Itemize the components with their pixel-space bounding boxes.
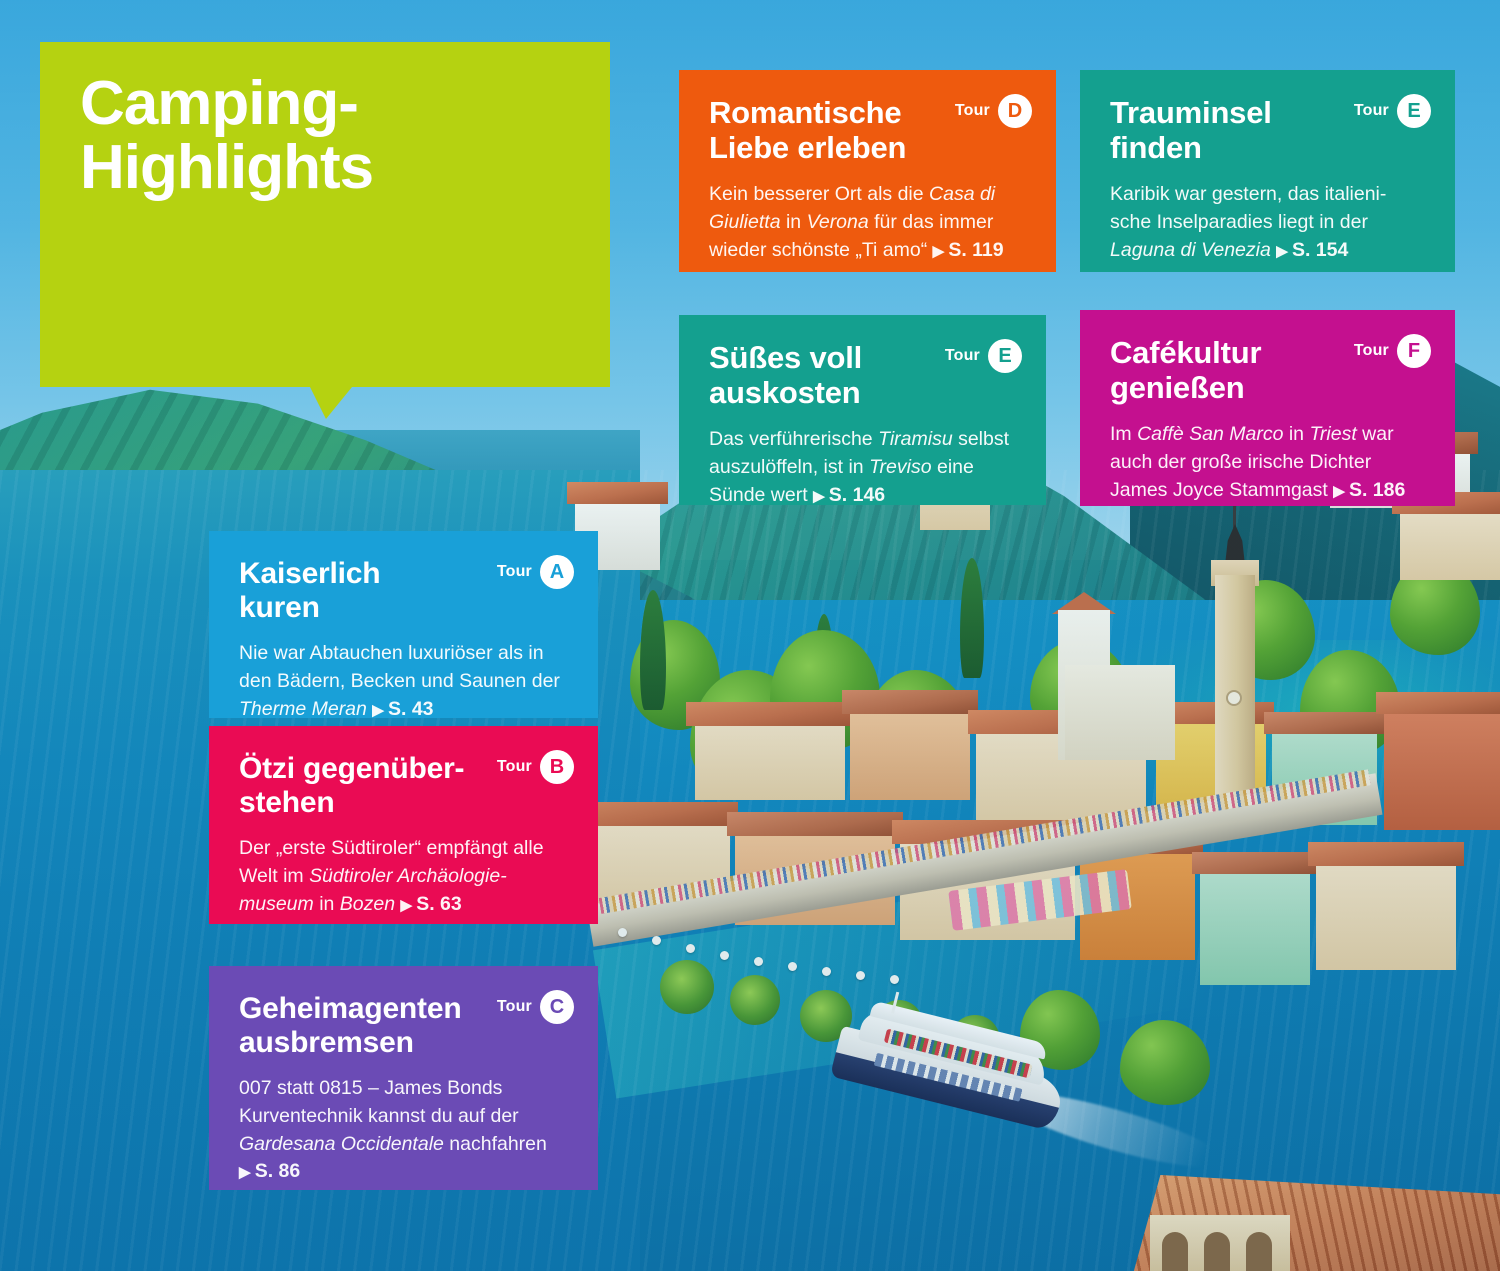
tour-badge: TourC bbox=[497, 990, 574, 1024]
page-number: S. 119 bbox=[948, 239, 1003, 261]
tour-label: Tour bbox=[497, 758, 532, 776]
emphasis-text: Gardesana Occidentale bbox=[239, 1133, 444, 1155]
buoy-line bbox=[618, 928, 938, 988]
play-arrow-icon: ▶ bbox=[401, 897, 417, 914]
tour-letter-badge: F bbox=[1397, 334, 1431, 368]
page-reference[interactable]: ▶ S. 43 bbox=[372, 698, 433, 720]
card-body: Im Caffè San Marco in Triest war auch de… bbox=[1110, 421, 1425, 504]
foreground-arch bbox=[1162, 1232, 1188, 1271]
tour-label: Tour bbox=[1354, 102, 1389, 120]
play-arrow-icon: ▶ bbox=[239, 1164, 255, 1181]
card-body: Kein besserer Ort als die Casa di Giulie… bbox=[709, 181, 1026, 264]
page-reference[interactable]: ▶ S. 86 bbox=[239, 1160, 300, 1182]
page-number: S. 86 bbox=[255, 1160, 301, 1182]
page-reference[interactable]: ▶ S. 154 bbox=[1276, 239, 1348, 261]
foreground-arch bbox=[1246, 1232, 1272, 1271]
card-body: 007 statt 0815 – James Bonds Kurventechn… bbox=[239, 1075, 568, 1186]
tour-letter-badge: B bbox=[540, 750, 574, 784]
page-number: S. 43 bbox=[388, 698, 434, 720]
page-number: S. 186 bbox=[1349, 479, 1405, 501]
play-arrow-icon: ▶ bbox=[813, 488, 829, 505]
tour-label: Tour bbox=[955, 102, 990, 120]
body-text: Das verführerische bbox=[709, 428, 878, 450]
tour-label: Tour bbox=[497, 998, 532, 1016]
highlight-card-geheimagenten[interactable]: TourCGeheimagenten ausbremsen007 statt 0… bbox=[209, 966, 598, 1190]
highlight-card-romantische-liebe[interactable]: TourDRomantische Liebe erlebenKein besse… bbox=[679, 70, 1056, 272]
body-text: Im bbox=[1110, 423, 1137, 445]
page-reference[interactable]: ▶ S. 119 bbox=[933, 239, 1004, 261]
body-text: 007 statt 0815 – James Bonds Kurventechn… bbox=[239, 1077, 519, 1127]
tour-badge: TourA bbox=[497, 555, 574, 589]
title-speech-bubble: Camping- Highlights bbox=[40, 42, 610, 387]
emphasis-text: Therme Meran bbox=[239, 698, 367, 720]
card-body: Das verführerische Tiramisu selbst auszu… bbox=[709, 426, 1016, 509]
highlight-card-suesses-auskosten[interactable]: TourESüßes voll auskostenDas verführeris… bbox=[679, 315, 1046, 505]
tour-badge: TourD bbox=[955, 94, 1032, 128]
tour-label: Tour bbox=[497, 563, 532, 581]
body-text: nachfahren bbox=[444, 1133, 547, 1155]
church-body bbox=[1065, 665, 1175, 760]
page-title: Camping- Highlights bbox=[40, 42, 610, 201]
highlight-card-trauminsel[interactable]: TourETrauminsel findenKaribik war gester… bbox=[1080, 70, 1455, 272]
campanile-tower bbox=[1215, 575, 1255, 800]
tour-letter-badge: A bbox=[540, 555, 574, 589]
body-text: Karibik war gestern, das italieni- sche … bbox=[1110, 183, 1386, 233]
foreground-arch bbox=[1204, 1232, 1230, 1271]
tour-letter-badge: D bbox=[998, 94, 1032, 128]
tour-badge: TourE bbox=[945, 339, 1022, 373]
emphasis-text: Verona bbox=[807, 211, 869, 233]
emphasis-text: Treviso bbox=[869, 456, 931, 478]
tour-label: Tour bbox=[945, 347, 980, 365]
page-number: S. 63 bbox=[416, 893, 462, 915]
play-arrow-icon: ▶ bbox=[372, 702, 388, 719]
campanile-clock bbox=[1226, 690, 1242, 706]
highlight-card-oetzi[interactable]: TourBÖtzi gegenüber- stehenDer „erste Sü… bbox=[209, 726, 598, 924]
campanile-finial bbox=[1233, 506, 1236, 528]
highlight-card-cafekultur[interactable]: TourFCafékultur genießenIm Caffè San Mar… bbox=[1080, 310, 1455, 506]
body-text: in bbox=[314, 893, 340, 915]
body-text: in bbox=[1283, 423, 1309, 445]
page-reference[interactable]: ▶ S. 63 bbox=[401, 893, 462, 915]
emphasis-text: Laguna di Venezia bbox=[1110, 239, 1271, 261]
tour-letter-badge: E bbox=[1397, 94, 1431, 128]
play-arrow-icon: ▶ bbox=[1276, 243, 1292, 260]
page-number: S. 154 bbox=[1292, 239, 1348, 261]
tour-letter-badge: C bbox=[540, 990, 574, 1024]
body-text: in bbox=[781, 211, 807, 233]
emphasis-text: Triest bbox=[1309, 423, 1356, 445]
page-reference[interactable]: ▶ S. 146 bbox=[813, 484, 885, 506]
card-body: Karibik war gestern, das italieni- sche … bbox=[1110, 181, 1425, 264]
tour-label: Tour bbox=[1354, 342, 1389, 360]
tour-badge: TourE bbox=[1354, 94, 1431, 128]
card-body: Nie war Abtauchen luxuriöser als in den … bbox=[239, 640, 568, 723]
tour-badge: TourB bbox=[497, 750, 574, 784]
tour-letter-badge: E bbox=[988, 339, 1022, 373]
emphasis-text: Tiramisu bbox=[878, 428, 953, 450]
body-text: Kein besserer Ort als die bbox=[709, 183, 929, 205]
play-arrow-icon: ▶ bbox=[1333, 483, 1349, 500]
play-arrow-icon: ▶ bbox=[933, 243, 949, 260]
page-number: S. 146 bbox=[829, 484, 885, 506]
body-text: Nie war Abtauchen luxuriöser als in den … bbox=[239, 642, 560, 692]
emphasis-text: Caffè San Marco bbox=[1137, 423, 1283, 445]
tour-badge: TourF bbox=[1354, 334, 1431, 368]
card-body: Der „erste Südtiroler“ empfängt alle Wel… bbox=[239, 835, 568, 918]
page-reference[interactable]: ▶ S. 186 bbox=[1333, 479, 1405, 501]
emphasis-text: Bozen bbox=[340, 893, 395, 915]
highlight-card-kaiserlich-kuren[interactable]: TourAKaiserlich kurenNie war Abtauchen l… bbox=[209, 531, 598, 718]
